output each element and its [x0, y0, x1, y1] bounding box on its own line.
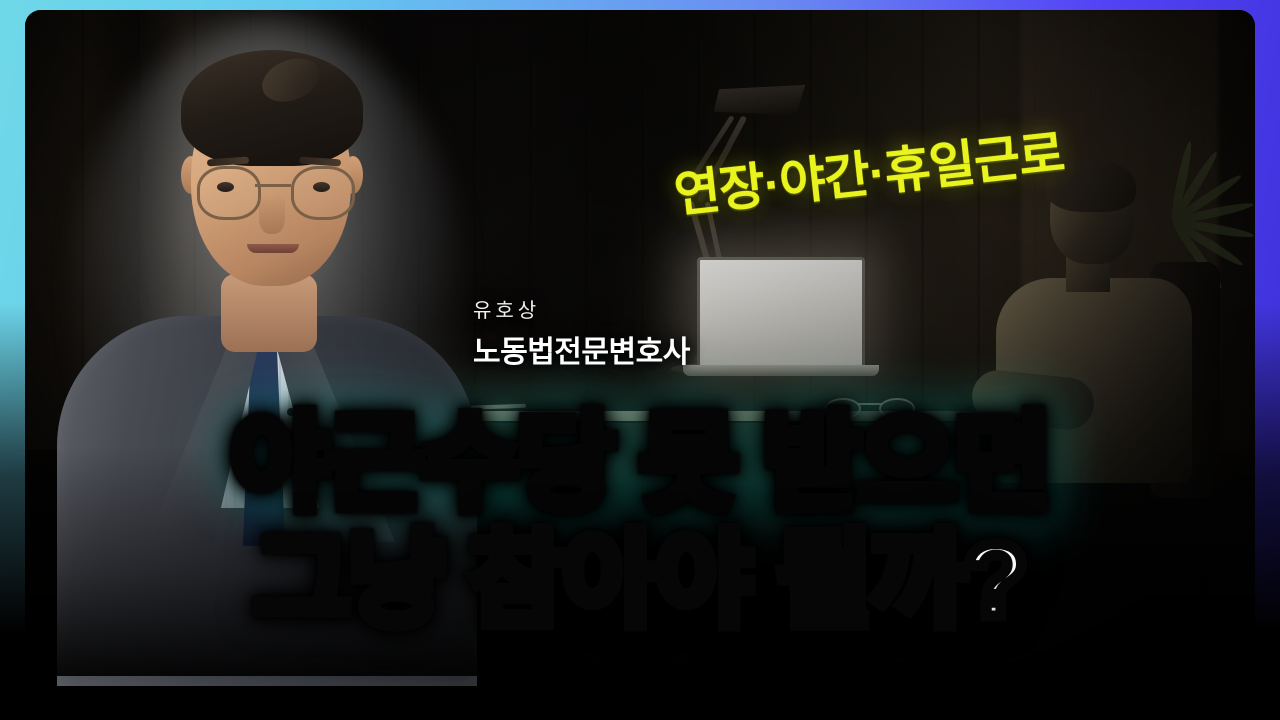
- main-title-line-2: 그냥 참아야 될까?: [25, 526, 1255, 636]
- youtube-thumbnail: 연장·야간·휴일근로 유호상 노동법전문변호사 야근수당 못 받으면 그냥 참아…: [0, 0, 1280, 720]
- text-overlay-layer: 연장·야간·휴일근로 유호상 노동법전문변호사 야근수당 못 받으면 그냥 참아…: [25, 10, 1255, 720]
- presenter-role: 노동법전문변호사: [473, 327, 690, 371]
- main-title: 야근수당 못 받으면 그냥 참아야 될까?: [25, 408, 1255, 637]
- yellow-headline: 연장·야간·휴일근로: [670, 113, 1067, 227]
- thumbnail-stage: 연장·야간·휴일근로 유호상 노동법전문변호사 야근수당 못 받으면 그냥 참아…: [25, 10, 1255, 720]
- presenter-name: 유호상: [473, 294, 690, 323]
- presenter-caption: 유호상 노동법전문변호사: [473, 294, 690, 371]
- main-title-line-1: 야근수당 못 받으면: [25, 408, 1255, 520]
